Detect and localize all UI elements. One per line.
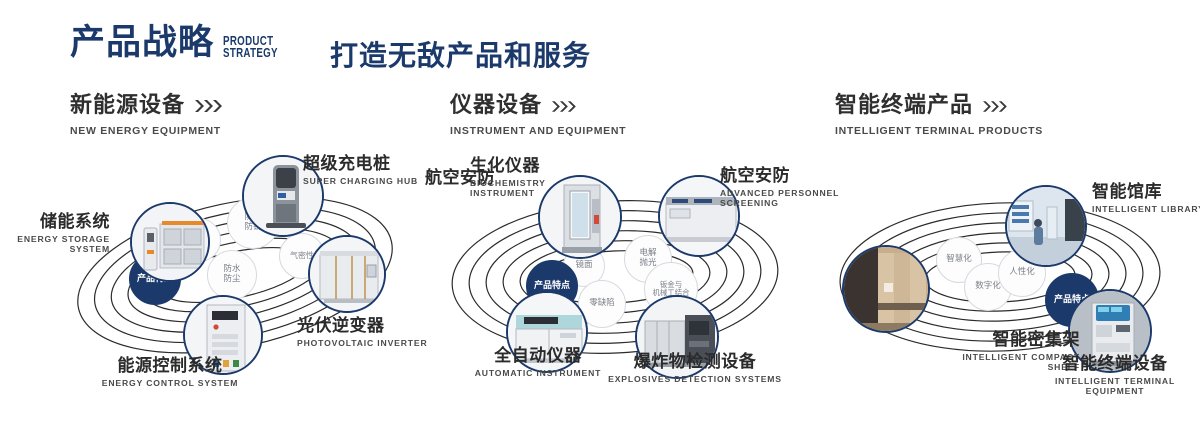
node-caption-cn: 能源控制系统 [80,357,260,376]
node-caption-cn: 光伏逆变器 [297,317,447,336]
node-caption-intelligent-terminal: 智能终端设备 INTELLIGENT TERMINAL EQUIPMENT [1025,355,1200,397]
node-caption-cn: 生化仪器 [470,157,590,176]
triple-chevron-right-icon [195,100,229,112]
section-title-en: INTELLIGENT TERMINAL PRODUCTS [835,125,1043,137]
node-caption-automatic-instrument: 全自动仪器 AUTOMATIC INSTRUMENT [458,347,618,378]
section-title-cn: 仪器设备 [450,95,542,117]
compact-shelf-photo [844,247,928,331]
product-node-compact-shelf[interactable] [842,245,930,333]
page-title-en: PRODUCT STRATEGY [223,36,278,59]
section-heading-intelligent: 智能终端产品 INTELLIGENT TERMINAL PRODUCTS [835,95,1043,137]
node-caption-en: ENERGY STORAGE SYSTEM [0,234,110,255]
product-node-intelligent-library[interactable] [1005,185,1087,267]
poster-canvas: 产品战略 PRODUCT STRATEGY 打造无敌产品和服务 新能源设备 NE… [0,0,1200,422]
node-caption-en: INTELLIGENT TERMINAL EQUIPMENT [1025,376,1200,397]
page-title-cn: 产品战略 [70,26,214,61]
node-caption-energy-control: 能源控制系统 ENERGY CONTROL SYSTEM [80,357,260,388]
energy-storage-cabinet-photo [132,204,208,280]
node-caption-en: ENERGY CONTROL SYSTEM [80,378,260,389]
feature-bubble: 防水 防尘 [207,250,257,300]
node-caption-en: EXPLOSIVES DETECTION SYSTEMS [605,374,785,385]
triple-chevron-right-icon [552,101,582,112]
page-subtitle: 打造无敌产品和服务 [330,34,591,74]
product-node-energy-storage[interactable] [130,202,210,282]
section-title-cn: 智能终端产品 [835,95,973,117]
section-title-en: INSTRUMENT AND EQUIPMENT [450,125,626,137]
section-heading-new-energy: 新能源设备 NEW ENERGY EQUIPMENT [70,95,229,137]
cluster-intelligent: 智慧化 数字化 人性化 产品特点 [820,155,1190,395]
node-caption-en: AUTOMATIC INSTRUMENT [458,368,618,379]
section-title-en: NEW ENERGY EQUIPMENT [70,125,229,137]
node-caption-en: INTELLIGENT LIBRARY [1092,204,1200,215]
cluster-new-energy: 户外 防腐 防锈 防水 防尘 气密性 产品特点 [55,155,415,395]
cluster-instrument: 镜面 电解 抛光 零缺陷 钣金与 机械工结合 产品特点 [430,155,800,395]
intelligent-library-photo [1007,187,1085,265]
section-title-cn: 新能源设备 [70,95,185,117]
node-caption-cn: 储能系统 [0,213,110,232]
node-caption-explosives-detector: 爆炸物检测设备 EXPLOSIVES DETECTION SYSTEMS [605,353,785,384]
center-bubble-label: 产品特点 [534,281,570,291]
node-caption-cn: 爆炸物检测设备 [605,353,785,372]
node-caption-pv-inverter: 光伏逆变器 PHOTOVOLTAIC INVERTER [297,317,447,348]
node-caption-cn: 全自动仪器 [458,347,618,366]
photovoltaic-inverter-photo [310,237,384,311]
node-caption-en: PHOTOVOLTAIC INVERTER [297,338,447,349]
node-caption-cn: 智能终端设备 [1025,355,1200,374]
node-caption-biochemistry: 生化仪器 BIOCHEMISTRY INSTRUMENT [470,157,590,199]
node-caption-cn: 智能密集架 [950,331,1080,350]
product-node-pv-inverter[interactable] [308,235,386,313]
node-caption-energy-storage: 储能系统 ENERGY STORAGE SYSTEM [0,213,110,255]
node-caption-intelligent-library: 智能馆库 INTELLIGENT LIBRARY [1092,183,1200,214]
page-title: 产品战略 PRODUCT STRATEGY [70,26,293,61]
section-heading-instrument: 仪器设备 INSTRUMENT AND EQUIPMENT [450,95,626,137]
node-caption-cn: 智能馆库 [1092,183,1200,202]
node-caption-en: BIOCHEMISTRY INSTRUMENT [470,178,590,199]
triple-chevron-right-icon [983,101,1013,112]
